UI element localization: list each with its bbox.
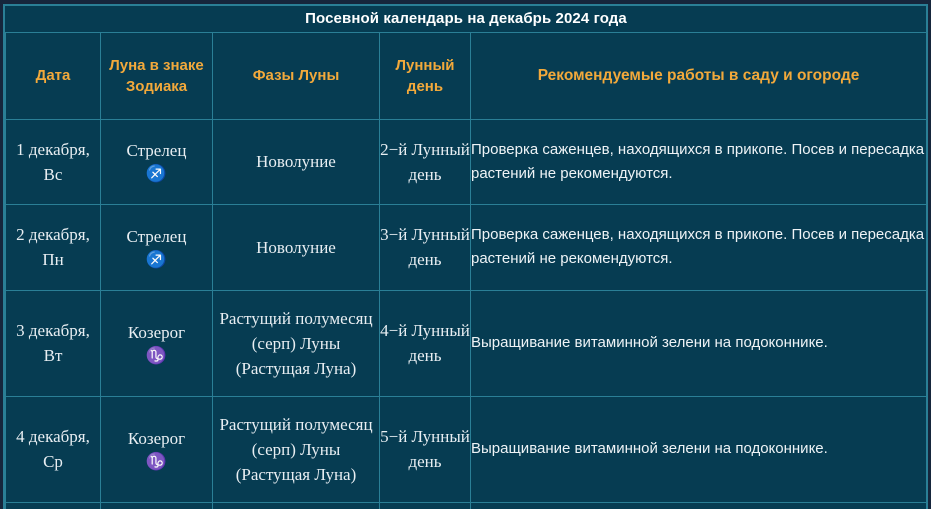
cell-lunar-day: 4−й Лунный день bbox=[380, 290, 471, 396]
zodiac-name: Козерог bbox=[101, 426, 212, 451]
table-row: 4 декабря, Ср Козерог ♑ Растущий полумес… bbox=[6, 396, 927, 502]
sagittarius-icon: ♐ bbox=[101, 163, 212, 185]
cell-recommended-works: Выращивание витаминной зелени на подокон… bbox=[471, 290, 927, 396]
calendar-title-row: Посевной календарь на декабрь 2024 года bbox=[6, 6, 927, 32]
cell-moon-phase: Новолуние bbox=[213, 119, 380, 204]
cell-zodiac: Козерог ♑ bbox=[101, 396, 213, 502]
cell-lunar-day: 5−й Лунный день bbox=[380, 396, 471, 502]
cell-recommended-works: Выращивание витаминной зелени на подокон… bbox=[471, 396, 927, 502]
column-header-moon-phase: Фазы Луны bbox=[213, 32, 380, 119]
table-row: 1 декабря, Вс Стрелец ♐ Новолуние 2−й Лу… bbox=[6, 119, 927, 204]
cell-date: 2 декабря, Пн bbox=[6, 204, 101, 290]
sagittarius-icon: ♐ bbox=[101, 249, 212, 271]
column-header-lunar-day: Лунный день bbox=[380, 32, 471, 119]
cell-date: 3 декабря, Вт bbox=[6, 290, 101, 396]
cell-moon-phase: Растущий полумесяц (серп) Луны (Растущая… bbox=[213, 396, 380, 502]
cell-lunar-day bbox=[380, 502, 471, 509]
calendar-head: Посевной календарь на декабрь 2024 года … bbox=[6, 6, 927, 119]
cell-moon-phase bbox=[213, 502, 380, 509]
cell-zodiac: Козерог ♑ bbox=[101, 290, 213, 396]
calendar-title: Посевной календарь на декабрь 2024 года bbox=[6, 6, 927, 32]
cell-recommended-works bbox=[471, 502, 927, 509]
cell-lunar-day: 3−й Лунный день bbox=[380, 204, 471, 290]
cell-date: 1 декабря, Вс bbox=[6, 119, 101, 204]
cell-zodiac: Стрелец ♐ bbox=[101, 204, 213, 290]
cell-lunar-day: 2−й Лунный день bbox=[380, 119, 471, 204]
capricorn-icon: ♑ bbox=[101, 345, 212, 367]
zodiac-name: Козерог bbox=[101, 320, 212, 345]
calendar-body: 1 декабря, Вс Стрелец ♐ Новолуние 2−й Лу… bbox=[6, 119, 927, 509]
cell-moon-phase: Новолуние bbox=[213, 204, 380, 290]
cell-zodiac bbox=[101, 502, 213, 509]
page-root: Посевной календарь на декабрь 2024 года … bbox=[0, 0, 931, 509]
capricorn-icon: ♑ bbox=[101, 451, 212, 473]
cell-recommended-works: Проверка саженцев, находящихся в прикопе… bbox=[471, 204, 927, 290]
table-row-partial bbox=[6, 502, 927, 509]
column-header-date: Дата bbox=[6, 32, 101, 119]
cell-moon-phase: Растущий полумесяц (серп) Луны (Растущая… bbox=[213, 290, 380, 396]
sowing-calendar-table: Посевной календарь на декабрь 2024 года … bbox=[5, 6, 927, 509]
cell-zodiac: Стрелец ♐ bbox=[101, 119, 213, 204]
cell-date: 4 декабря, Ср bbox=[6, 396, 101, 502]
cell-recommended-works: Проверка саженцев, находящихся в прикопе… bbox=[471, 119, 927, 204]
zodiac-name: Стрелец bbox=[101, 138, 212, 163]
cell-date bbox=[6, 502, 101, 509]
column-header-recommended-works: Рекомендуемые работы в саду и огороде bbox=[471, 32, 927, 119]
sowing-calendar-container: Посевной календарь на декабрь 2024 года … bbox=[3, 4, 928, 509]
column-header-zodiac: Луна в знаке Зодиака bbox=[101, 32, 213, 119]
table-row: 3 декабря, Вт Козерог ♑ Растущий полумес… bbox=[6, 290, 927, 396]
table-row: 2 декабря, Пн Стрелец ♐ Новолуние 3−й Лу… bbox=[6, 204, 927, 290]
calendar-header-row: Дата Луна в знаке Зодиака Фазы Луны Лунн… bbox=[6, 32, 927, 119]
zodiac-name: Стрелец bbox=[101, 224, 212, 249]
